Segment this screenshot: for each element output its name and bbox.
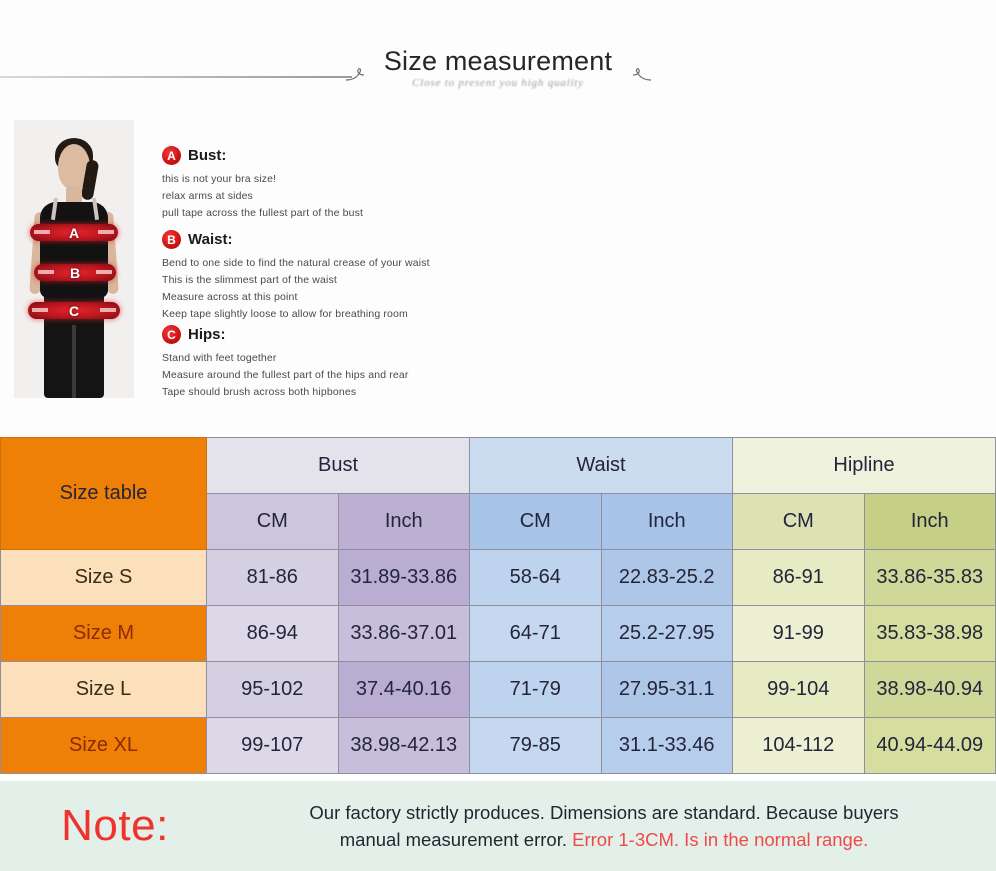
- instruction-waist-title: Waist:: [188, 231, 232, 248]
- instruction-bust-line-1: this is not your bra size!: [162, 171, 363, 188]
- cell-hipline-inch: 40.94-44.09: [864, 718, 996, 774]
- instruction-waist-line-3: Measure across at this point: [162, 289, 430, 306]
- row-size-label: Size S: [1, 550, 207, 606]
- unit-hipline-inch: Inch: [864, 494, 996, 550]
- cell-bust-cm: 95-102: [207, 662, 339, 718]
- cell-hipline-cm: 104-112: [733, 718, 865, 774]
- model-leg-gap: [72, 325, 76, 398]
- column-group-hipline: Hipline: [733, 438, 996, 494]
- hips-measure-band: C: [28, 302, 120, 319]
- hips-band-label: C: [28, 303, 120, 319]
- instruction-hips-header: C Hips:: [162, 325, 409, 344]
- instruction-waist-header: B Waist:: [162, 230, 430, 249]
- page-subtitle: Close to present you high quality: [0, 77, 996, 89]
- bust-band-label: A: [30, 225, 118, 241]
- cell-waist-inch: 31.1-33.46: [601, 718, 733, 774]
- note-text: Our factory strictly produces. Dimension…: [230, 799, 996, 853]
- cell-waist-cm: 58-64: [470, 550, 602, 606]
- table-row: Size S 81-86 31.89-33.86 58-64 22.83-25.…: [1, 550, 996, 606]
- instruction-hips-line-3: Tape should brush across both hipbones: [162, 384, 409, 401]
- cell-bust-cm: 99-107: [207, 718, 339, 774]
- table-row: Size M 86-94 33.86-37.01 64-71 25.2-27.9…: [1, 606, 996, 662]
- bust-measure-band: A: [30, 224, 118, 241]
- cell-bust-inch: 37.4-40.16: [338, 662, 470, 718]
- cell-waist-inch: 22.83-25.2: [601, 550, 733, 606]
- note-line-2: manual measurement error. Error 1-3CM. I…: [230, 826, 978, 853]
- measurement-guide-section: Size measurement Close to present you hi…: [0, 0, 996, 437]
- unit-waist-inch: Inch: [601, 494, 733, 550]
- note-label: Note:: [0, 801, 230, 851]
- waist-measure-band: B: [34, 264, 116, 281]
- cell-waist-cm: 64-71: [470, 606, 602, 662]
- title-block: Size measurement Close to present you hi…: [0, 44, 996, 106]
- cell-waist-inch: 27.95-31.1: [601, 662, 733, 718]
- column-group-waist: Waist: [470, 438, 733, 494]
- note-section: Note: Our factory strictly produces. Dim…: [0, 781, 996, 871]
- note-line-1: Our factory strictly produces. Dimension…: [230, 799, 978, 826]
- cell-bust-inch: 33.86-37.01: [338, 606, 470, 662]
- instruction-bust-header: A Bust:: [162, 146, 363, 165]
- size-table-corner-label: Size table: [1, 438, 207, 550]
- row-size-label: Size XL: [1, 718, 207, 774]
- instruction-waist-line-2: This is the slimmest part of the waist: [162, 272, 430, 289]
- instruction-bust: A Bust: this is not your bra size! relax…: [162, 146, 363, 222]
- cell-hipline-cm: 86-91: [733, 550, 865, 606]
- note-line-2-plain: manual measurement error.: [340, 829, 572, 850]
- unit-bust-cm: CM: [207, 494, 339, 550]
- marker-a-icon: A: [162, 146, 181, 165]
- cell-bust-inch: 31.89-33.86: [338, 550, 470, 606]
- table-group-header-row: Size table Bust Waist Hipline: [1, 438, 996, 494]
- row-size-label: Size L: [1, 662, 207, 718]
- unit-bust-inch: Inch: [338, 494, 470, 550]
- waist-band-label: B: [34, 265, 116, 281]
- cell-hipline-cm: 99-104: [733, 662, 865, 718]
- size-table: Size table Bust Waist Hipline CM Inch CM…: [0, 437, 996, 774]
- page-title: Size measurement: [0, 44, 996, 78]
- instruction-hips-line-1: Stand with feet together: [162, 350, 409, 367]
- instruction-bust-line-3: pull tape across the fullest part of the…: [162, 205, 363, 222]
- cell-bust-inch: 38.98-42.13: [338, 718, 470, 774]
- unit-waist-cm: CM: [470, 494, 602, 550]
- cell-bust-cm: 86-94: [207, 606, 339, 662]
- unit-hipline-cm: CM: [733, 494, 865, 550]
- instruction-waist-line-1: Bend to one side to find the natural cre…: [162, 255, 430, 272]
- note-error-warning: Error 1-3CM. Is in the normal range.: [572, 829, 868, 850]
- model-measurement-image: A B C: [14, 120, 134, 398]
- instruction-hips-title: Hips:: [188, 326, 226, 343]
- column-group-bust: Bust: [207, 438, 470, 494]
- cell-hipline-inch: 38.98-40.94: [864, 662, 996, 718]
- size-table-section: Size table Bust Waist Hipline CM Inch CM…: [0, 437, 996, 774]
- cell-waist-inch: 25.2-27.95: [601, 606, 733, 662]
- instruction-bust-title: Bust:: [188, 147, 226, 164]
- instruction-waist: B Waist: Bend to one side to find the na…: [162, 230, 430, 323]
- cell-hipline-cm: 91-99: [733, 606, 865, 662]
- instruction-bust-line-2: relax arms at sides: [162, 188, 363, 205]
- cell-hipline-inch: 33.86-35.83: [864, 550, 996, 606]
- marker-c-icon: C: [162, 325, 181, 344]
- cell-waist-cm: 79-85: [470, 718, 602, 774]
- cell-waist-cm: 71-79: [470, 662, 602, 718]
- cell-bust-cm: 81-86: [207, 550, 339, 606]
- instruction-waist-line-4: Keep tape slightly loose to allow for br…: [162, 306, 430, 323]
- table-row: Size XL 99-107 38.98-42.13 79-85 31.1-33…: [1, 718, 996, 774]
- marker-b-icon: B: [162, 230, 181, 249]
- row-size-label: Size M: [1, 606, 207, 662]
- instruction-hips: C Hips: Stand with feet together Measure…: [162, 325, 409, 401]
- cell-hipline-inch: 35.83-38.98: [864, 606, 996, 662]
- instruction-hips-line-2: Measure around the fullest part of the h…: [162, 367, 409, 384]
- table-row: Size L 95-102 37.4-40.16 71-79 27.95-31.…: [1, 662, 996, 718]
